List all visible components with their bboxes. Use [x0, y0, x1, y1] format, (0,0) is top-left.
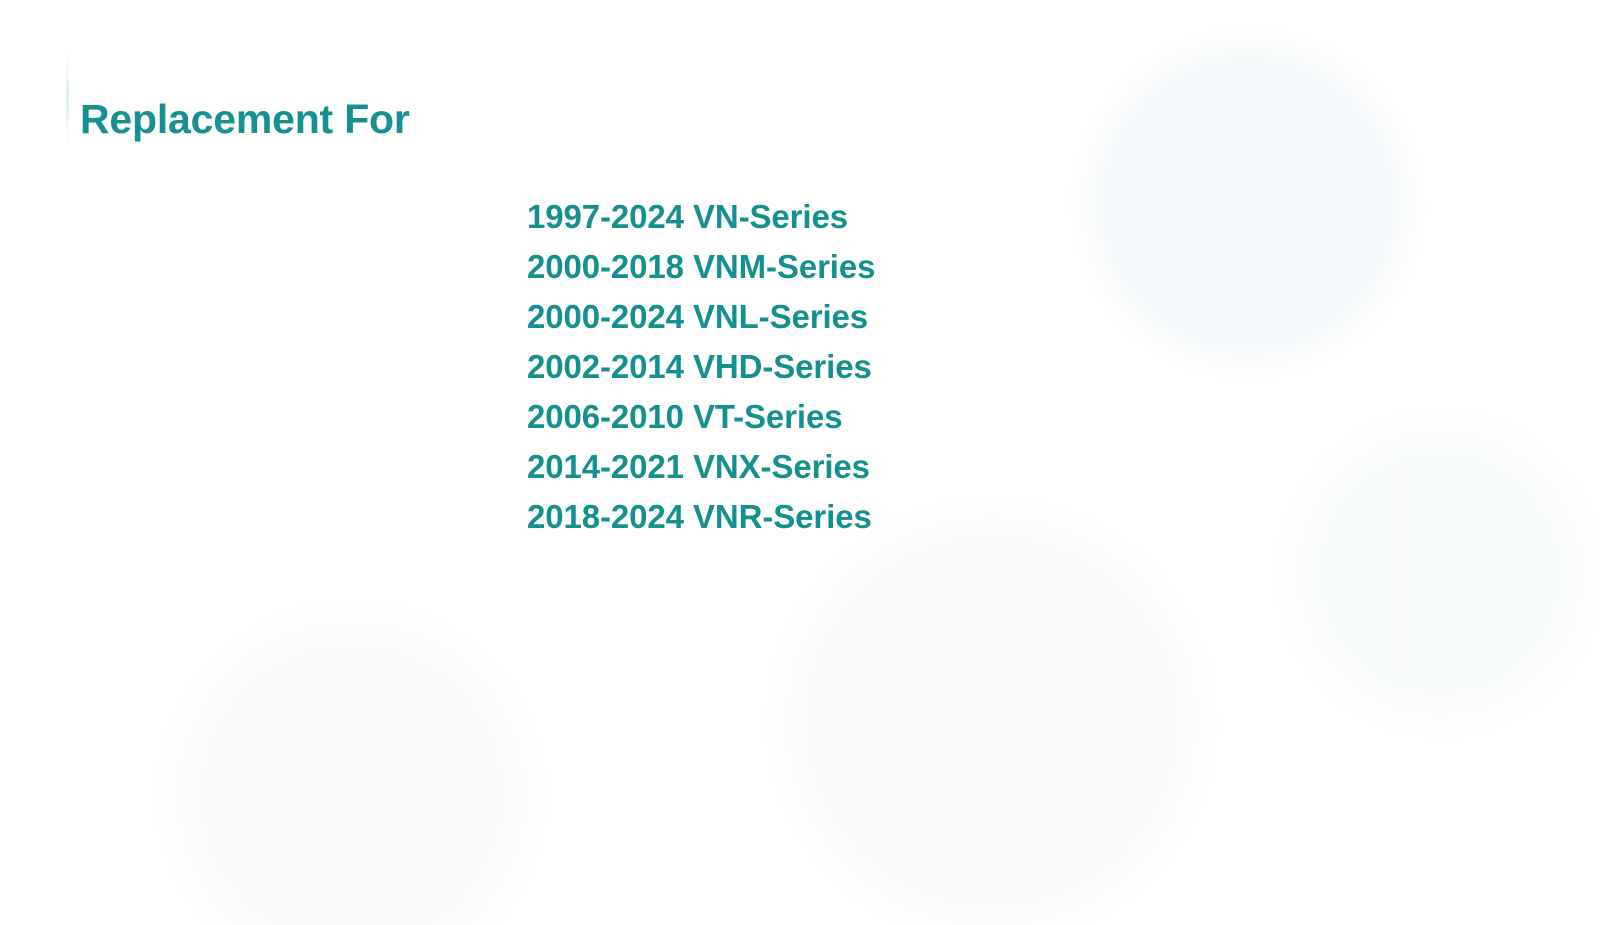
list-item: 2002-2014 VHD-Series — [527, 342, 875, 392]
product-compatibility-panel: Replacement For 1997-2024 VN-Series 2000… — [0, 0, 1600, 925]
list-item: 2018-2024 VNR-Series — [527, 492, 875, 542]
list-item: 2014-2021 VNX-Series — [527, 442, 875, 492]
list-item: 1997-2024 VN-Series — [527, 192, 875, 242]
replacement-series-list: 1997-2024 VN-Series 2000-2018 VNM-Series… — [527, 192, 875, 542]
list-item: 2000-2018 VNM-Series — [527, 242, 875, 292]
list-item: 2000-2024 VNL-Series — [527, 292, 875, 342]
heading-accent-bar — [66, 52, 69, 144]
page-title: Replacement For — [80, 99, 410, 140]
list-item: 2006-2010 VT-Series — [527, 392, 875, 442]
